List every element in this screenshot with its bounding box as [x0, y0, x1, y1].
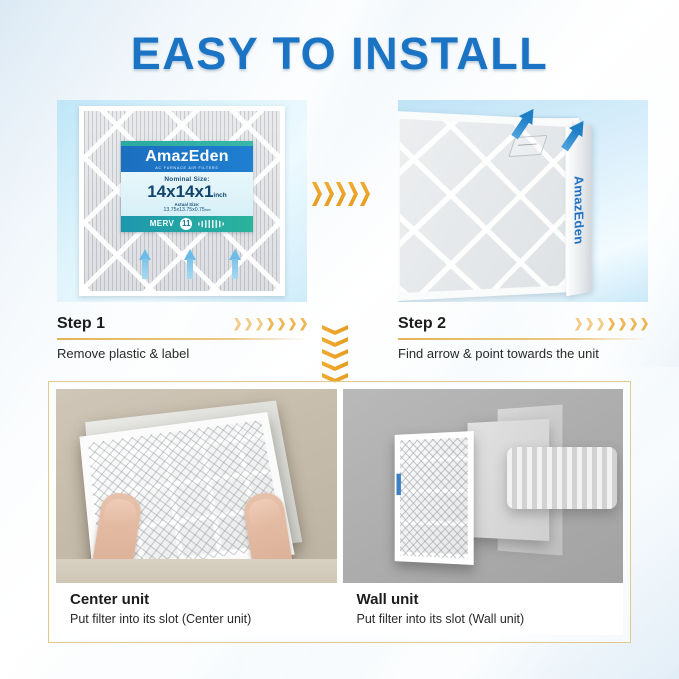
page-title: EASY TO INSTALL [0, 28, 679, 80]
label-brand-band: AmazEden AC FURNACE AIR FILTERS [121, 146, 253, 172]
wall-filter [394, 431, 473, 565]
center-unit-title: Center unit [70, 591, 337, 608]
chevron-right-icon [324, 182, 334, 206]
step-1-header: Step 1 [57, 315, 307, 333]
chevron-right-icon [360, 182, 370, 206]
nominal-size-value: 14x14x1inch [123, 183, 251, 201]
label-merv-band: MERV 11 [121, 216, 253, 232]
air-filter-front-view: AmazEden AC FURNACE AIR FILTERS Nominal … [79, 106, 285, 296]
center-unit-description: Put filter into its slot (Center unit) [70, 612, 337, 626]
actual-size-unit: mm [205, 208, 211, 212]
bottom-section: Center unit Put filter into its slot (Ce… [48, 381, 631, 643]
step-2-header: Step 2 [398, 315, 648, 333]
chevron-right-icon [256, 318, 263, 331]
chevron-down-icon [322, 361, 348, 371]
filter-grid-pattern [400, 437, 468, 558]
chevron-right-icon [575, 318, 582, 331]
infographic-canvas: EASY TO INSTALL AmazEden AC FURNACE AIR … [0, 0, 679, 679]
actual-size-number: 13.75x13.75x0.75 [164, 207, 205, 213]
chevron-down-icon [322, 349, 348, 359]
nominal-size-unit: inch [213, 192, 226, 199]
chevron-right-icon [597, 318, 604, 331]
chevron-right-icon [312, 182, 322, 206]
chevron-right-icon [348, 182, 358, 206]
airflow-up-arrow-icon [184, 249, 196, 279]
flow-chevrons-right [312, 182, 370, 206]
step-2-description: Find arrow & point towards the unit [398, 346, 648, 361]
step-1-title: Step 1 [57, 315, 105, 333]
step-1-chevron-decoration [234, 318, 307, 331]
chevron-right-icon [234, 318, 241, 331]
chevron-right-icon [300, 318, 307, 331]
merv-label: MERV [150, 219, 175, 228]
chevron-down-icon [322, 325, 348, 335]
filter-product-label: AmazEden AC FURNACE AIR FILTERS Nominal … [121, 141, 253, 232]
step-1-image: AmazEden AC FURNACE AIR FILTERS Nominal … [57, 100, 307, 302]
center-unit-photo [56, 389, 337, 583]
airflow-up-arrow-icon [139, 249, 151, 279]
step-2-divider [398, 338, 648, 340]
step-2-panel: AmazEden Step 2 Find arrow & point towar… [398, 100, 648, 361]
actual-size-value: 13.75x13.75x0.75mm [123, 207, 251, 213]
chevron-right-icon [586, 318, 593, 331]
merv-bars-icon [198, 220, 224, 228]
wall-unit-description: Put filter into its slot (Wall unit) [357, 612, 624, 626]
brand-subtitle: AC FURNACE AIR FILTERS [121, 166, 253, 170]
chevron-right-icon [630, 318, 637, 331]
wall-unit-photo [343, 389, 624, 583]
wall-unit-card: Wall unit Put filter into its slot (Wall… [343, 389, 624, 635]
chevron-right-icon [336, 182, 346, 206]
flexible-duct [507, 447, 617, 509]
step-2-chevron-decoration [575, 318, 648, 331]
chevron-right-icon [641, 318, 648, 331]
chevron-right-icon [278, 318, 285, 331]
center-unit-card: Center unit Put filter into its slot (Ce… [56, 389, 337, 635]
chevron-right-icon [289, 318, 296, 331]
chevron-right-icon [267, 318, 274, 331]
filter-label-tab [396, 474, 400, 495]
chevron-right-icon [245, 318, 252, 331]
flow-chevrons-down [322, 325, 348, 383]
chevron-down-icon [322, 337, 348, 347]
center-unit-caption: Center unit Put filter into its slot (Ce… [56, 583, 337, 635]
side-brand-name: AmazEden [572, 175, 587, 246]
brand-name: AmazEden [121, 149, 253, 166]
label-size-body: Nominal Size: 14x14x1inch Actual Size: 1… [121, 172, 253, 216]
chevron-right-icon [608, 318, 615, 331]
wall-unit-title: Wall unit [357, 591, 624, 608]
step-1-description: Remove plastic & label [57, 346, 307, 361]
step-2-title: Step 2 [398, 315, 446, 333]
step-1-divider [57, 338, 307, 340]
wall-baseboard [56, 559, 337, 583]
step-1-panel: AmazEden AC FURNACE AIR FILTERS Nominal … [57, 100, 307, 361]
chevron-right-icon [619, 318, 626, 331]
step-2-image: AmazEden [398, 100, 648, 302]
nominal-size-number: 14x14x1 [147, 182, 213, 201]
wall-unit-caption: Wall unit Put filter into its slot (Wall… [343, 583, 624, 635]
airflow-up-arrow-icon [229, 249, 241, 279]
merv-rating-badge: 11 [180, 218, 192, 230]
